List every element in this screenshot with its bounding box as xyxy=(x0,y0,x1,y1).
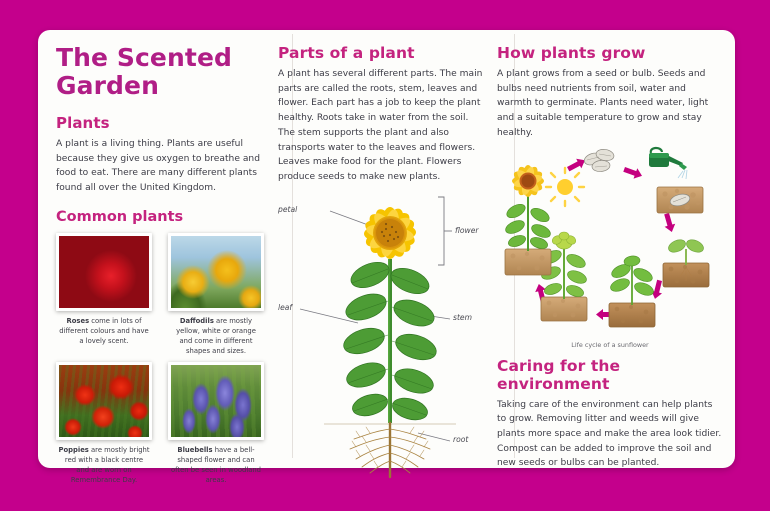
mature-sunflower-icon xyxy=(504,164,553,275)
poppy-photo xyxy=(56,362,152,440)
right-column: How plants grow A plant grows from a see… xyxy=(497,44,723,458)
rose-photo xyxy=(56,233,152,311)
sunflower-head-icon xyxy=(362,205,418,261)
page-title: The Scented Garden xyxy=(56,44,264,100)
plant-caption: Daffodils are mostly yellow, white or or… xyxy=(168,316,264,356)
seeds-icon xyxy=(583,148,615,172)
caring-paragraph: Taking care of the environment can help … xyxy=(497,398,723,472)
plant-diagram: petal flower stem leaf root xyxy=(278,191,483,481)
sun-icon xyxy=(546,168,584,206)
seedling-icon xyxy=(663,237,709,287)
plant-card-poppies: Poppies are mostly bright red with a bla… xyxy=(56,362,152,485)
content-card: The Scented Garden Plants A plant is a l… xyxy=(38,30,735,468)
flower-bracket-icon xyxy=(438,197,452,265)
plant-card-bluebells: Bluebells have a bell-shaped flower and … xyxy=(168,362,264,485)
lifecycle-caption: Life cycle of a sunflower xyxy=(497,341,723,349)
how-plants-grow-heading: How plants grow xyxy=(497,44,723,62)
roots-shape xyxy=(350,423,430,477)
daffodil-photo xyxy=(168,233,264,311)
plant-card-daffodils: Daffodils are mostly yellow, white or or… xyxy=(168,233,264,356)
plant-caption: Roses come in lots of different colours … xyxy=(56,316,152,346)
bud-shape xyxy=(551,232,578,249)
parts-of-plant-heading: Parts of a plant xyxy=(278,44,483,62)
plant-name: Poppies xyxy=(58,446,88,454)
how-plants-grow-paragraph: A plant grows from a seed or bulb. Seeds… xyxy=(497,67,723,141)
plants-paragraph: A plant is a living thing. Plants are us… xyxy=(56,137,264,196)
plant-caption: Poppies are mostly bright red with a bla… xyxy=(56,445,152,485)
plant-caption: Bluebells have a bell-shaped flower and … xyxy=(168,445,264,485)
plant-name: Roses xyxy=(67,317,90,325)
seed-in-soil-icon xyxy=(657,187,703,213)
diagram-label-leaf: leaf xyxy=(278,303,292,312)
left-column: The Scented Garden Plants A plant is a l… xyxy=(56,44,264,458)
watering-can-icon xyxy=(649,148,687,179)
parts-of-plant-paragraph: A plant has several different parts. The… xyxy=(278,67,483,185)
common-plants-heading: Common plants xyxy=(56,209,264,225)
lifecycle-svg xyxy=(497,145,723,340)
lifecycle-diagram xyxy=(497,145,723,340)
diagram-label-stem: stem xyxy=(453,313,472,322)
plants-heading: Plants xyxy=(56,114,264,132)
sunflower-bloom xyxy=(511,164,545,198)
caring-heading: Caring for the environment xyxy=(497,357,723,393)
diagram-label-root: root xyxy=(453,435,468,444)
middle-column: Parts of a plant A plant has several dif… xyxy=(278,44,483,458)
plant-card-roses: Roses come in lots of different colours … xyxy=(56,233,152,356)
plant-name: Daffodils xyxy=(180,317,214,325)
bluebell-photo xyxy=(168,362,264,440)
plant-name: Bluebells xyxy=(177,446,212,454)
common-plants-grid: Roses come in lots of different colours … xyxy=(56,233,264,485)
diagram-label-flower: flower xyxy=(455,226,479,235)
poster: The Scented Garden Plants A plant is a l… xyxy=(0,0,770,511)
young-plant-icon xyxy=(609,255,656,327)
diagram-label-petal: petal xyxy=(278,205,297,214)
